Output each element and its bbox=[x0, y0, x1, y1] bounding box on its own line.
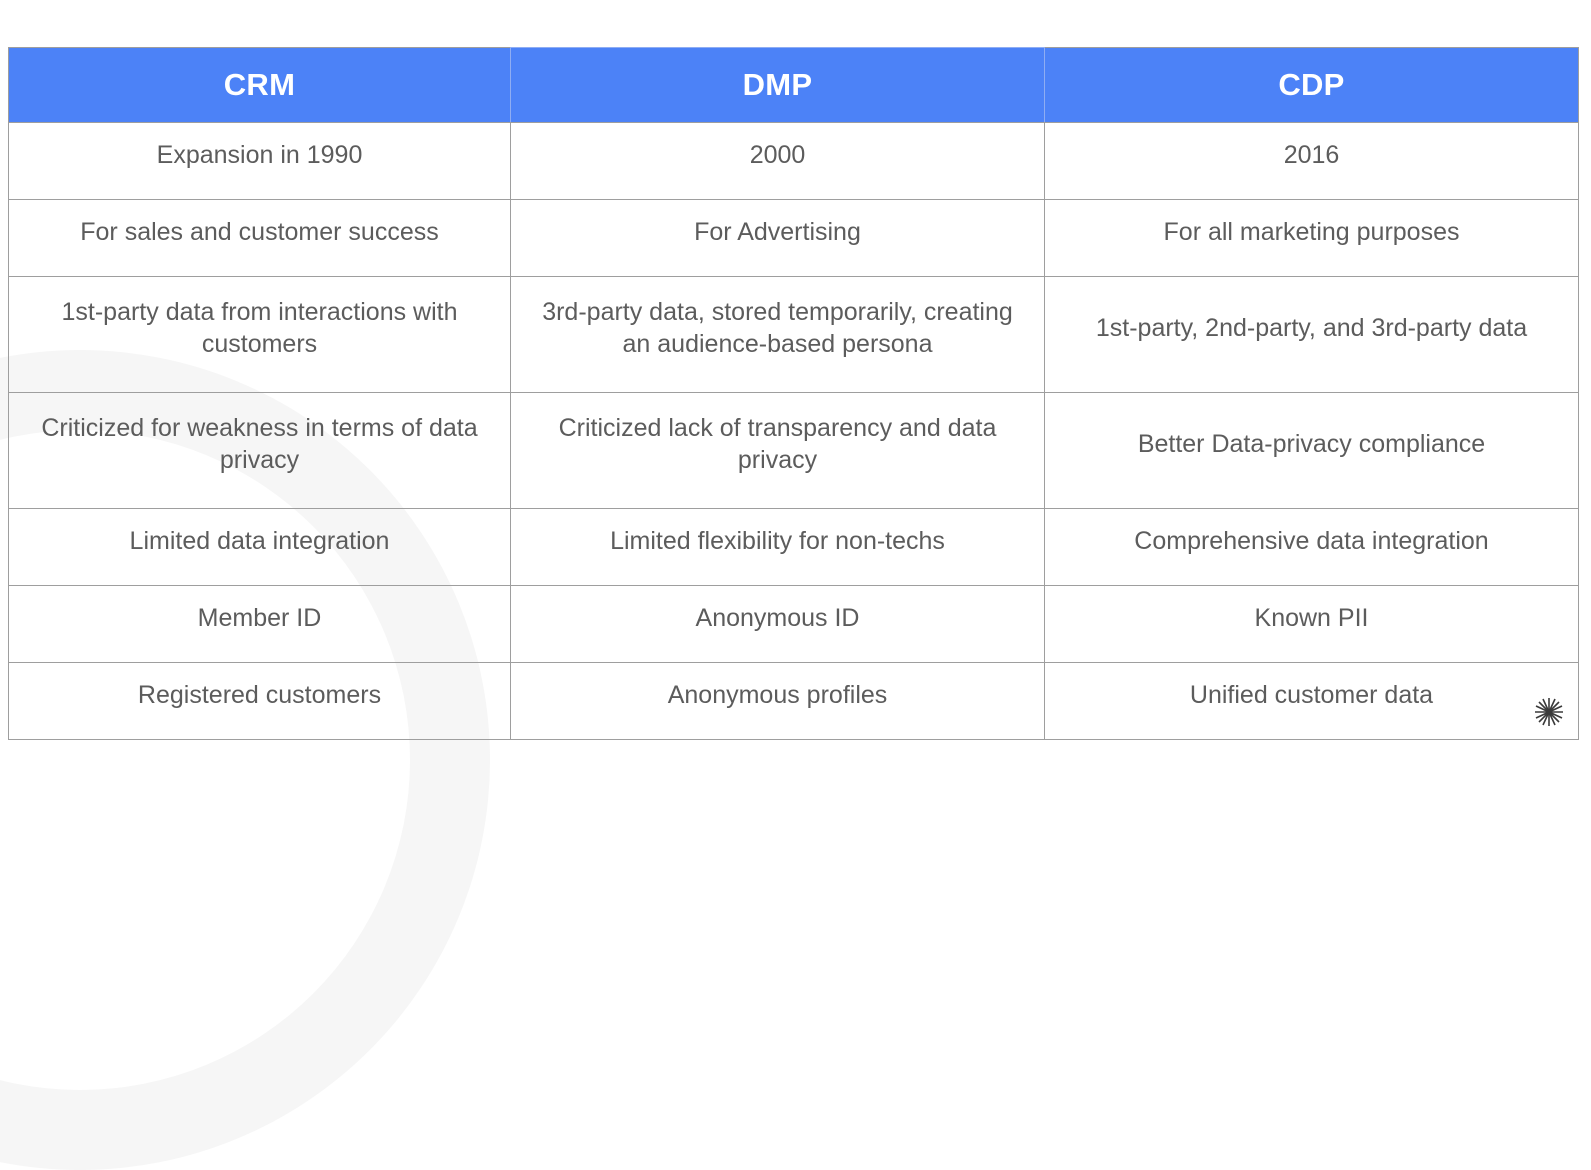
table-row: Registered customers Anonymous profiles … bbox=[9, 663, 1579, 740]
cell-text: Expansion in 1990 bbox=[27, 140, 492, 172]
cell-dmp: For Advertising bbox=[511, 200, 1045, 277]
cell-dmp: Limited flexibility for non-techs bbox=[511, 509, 1045, 586]
comparison-table: CRM DMP CDP Expansion in 1990 2000 2016 … bbox=[8, 47, 1579, 740]
cell-text: For Advertising bbox=[529, 217, 1026, 249]
table-row: For sales and customer success For Adver… bbox=[9, 200, 1579, 277]
cell-cdp: Comprehensive data integration bbox=[1045, 509, 1579, 586]
cell-text: 2000 bbox=[529, 140, 1026, 172]
column-header-crm-label: CRM bbox=[224, 67, 296, 102]
cell-text: 1st-party data from interactions with cu… bbox=[27, 297, 492, 361]
cell-crm: 1st-party data from interactions with cu… bbox=[9, 277, 511, 393]
cell-crm: Registered customers bbox=[9, 663, 511, 740]
cell-crm: Expansion in 1990 bbox=[9, 123, 511, 200]
column-header-cdp: CDP bbox=[1045, 48, 1579, 123]
cell-dmp: Anonymous ID bbox=[511, 586, 1045, 663]
cell-dmp: Anonymous profiles bbox=[511, 663, 1045, 740]
column-header-cdp-label: CDP bbox=[1278, 67, 1344, 102]
table-row: Limited data integration Limited flexibi… bbox=[9, 509, 1579, 586]
cell-text: Comprehensive data integration bbox=[1063, 526, 1560, 558]
cell-dmp: 3rd-party data, stored temporarily, crea… bbox=[511, 277, 1045, 393]
cell-cdp: Known PII bbox=[1045, 586, 1579, 663]
cell-text: Limited data integration bbox=[27, 526, 492, 558]
cell-cdp: 2016 bbox=[1045, 123, 1579, 200]
cell-cdp: Unified customer data bbox=[1045, 663, 1579, 740]
cell-dmp: Criticized lack of transparency and data… bbox=[511, 393, 1045, 509]
cell-text: For all marketing purposes bbox=[1063, 217, 1560, 249]
table-body: Expansion in 1990 2000 2016 For sales an… bbox=[9, 123, 1579, 740]
table-row: Criticized for weakness in terms of data… bbox=[9, 393, 1579, 509]
cell-text: Limited flexibility for non-techs bbox=[529, 526, 1026, 558]
cell-cdp: For all marketing purposes bbox=[1045, 200, 1579, 277]
cell-crm: Limited data integration bbox=[9, 509, 511, 586]
table-row: 1st-party data from interactions with cu… bbox=[9, 277, 1579, 393]
cell-crm: Criticized for weakness in terms of data… bbox=[9, 393, 511, 509]
cell-text: Better Data-privacy compliance bbox=[1063, 429, 1560, 461]
cell-text: Known PII bbox=[1063, 603, 1560, 635]
cell-text: 3rd-party data, stored temporarily, crea… bbox=[529, 297, 1026, 361]
table-header-row: CRM DMP CDP bbox=[9, 48, 1579, 123]
column-header-crm: CRM bbox=[9, 48, 511, 123]
cell-dmp: 2000 bbox=[511, 123, 1045, 200]
cell-text: Criticized lack of transparency and data… bbox=[529, 413, 1026, 477]
cell-text: Anonymous profiles bbox=[529, 680, 1026, 712]
cell-cdp: 1st-party, 2nd-party, and 3rd-party data bbox=[1045, 277, 1579, 393]
cell-text: For sales and customer success bbox=[27, 217, 492, 249]
cell-crm: Member ID bbox=[9, 586, 511, 663]
cell-text: Unified customer data bbox=[1063, 680, 1560, 712]
cell-text: 1st-party, 2nd-party, and 3rd-party data bbox=[1063, 313, 1560, 345]
table-row: Expansion in 1990 2000 2016 bbox=[9, 123, 1579, 200]
cell-cdp: Better Data-privacy compliance bbox=[1045, 393, 1579, 509]
table-header: CRM DMP CDP bbox=[9, 48, 1579, 123]
cell-text: 2016 bbox=[1063, 140, 1560, 172]
column-header-dmp-label: DMP bbox=[743, 67, 813, 102]
table-row: Member ID Anonymous ID Known PII bbox=[9, 586, 1579, 663]
cell-crm: For sales and customer success bbox=[9, 200, 511, 277]
cell-text: Anonymous ID bbox=[529, 603, 1026, 635]
cell-text: Registered customers bbox=[27, 680, 492, 712]
comparison-table-container: CRM DMP CDP Expansion in 1990 2000 2016 … bbox=[8, 47, 1578, 733]
column-header-dmp: DMP bbox=[511, 48, 1045, 123]
cell-text: Member ID bbox=[27, 603, 492, 635]
cell-text: Criticized for weakness in terms of data… bbox=[27, 413, 492, 477]
